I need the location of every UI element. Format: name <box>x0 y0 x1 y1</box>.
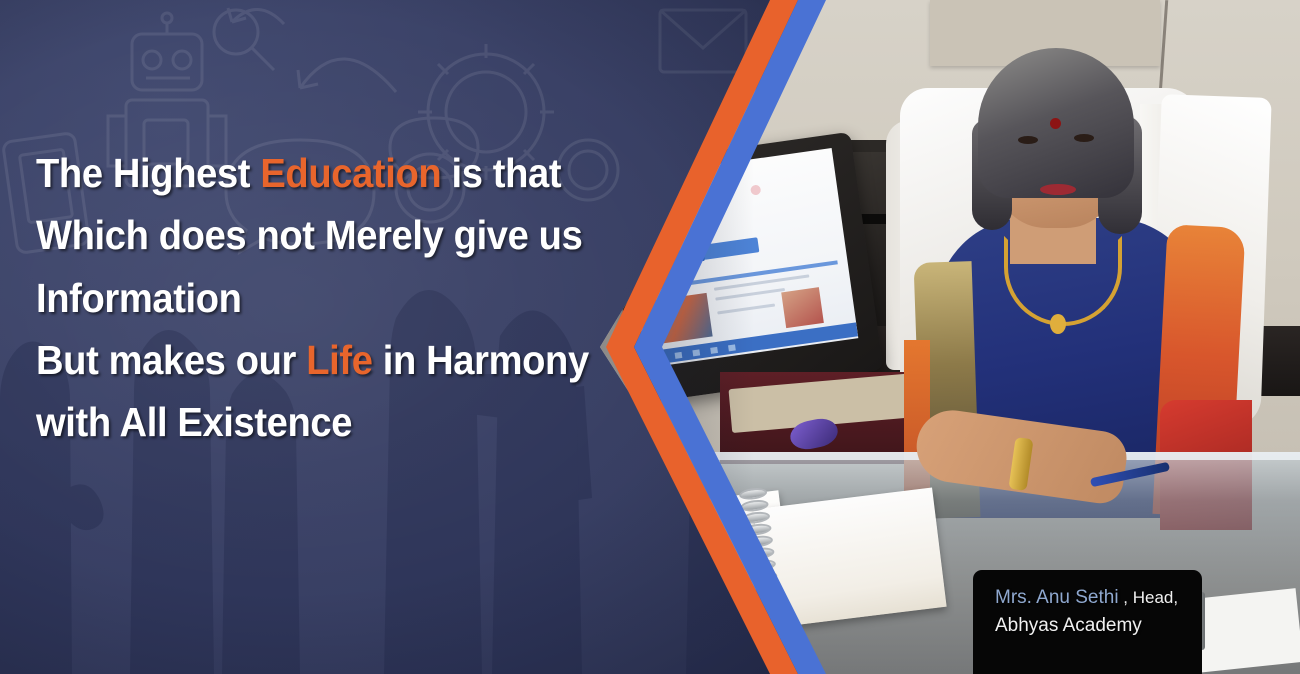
eye-right <box>1074 134 1094 142</box>
screen-text-line <box>717 303 775 314</box>
caption-organization: Abhyas Academy <box>995 612 1202 640</box>
caption-speaker-name: Mrs. Anu Sethi <box>995 587 1119 608</box>
screen-dot <box>750 184 761 195</box>
headline-accent-life: Life <box>306 337 372 383</box>
screen-logo-text <box>702 237 760 260</box>
headline-line-1-pre: The Highest <box>36 150 260 196</box>
education-hero-banner: The Highest Education is that Which does… <box>0 0 1300 674</box>
taskbar-icon <box>710 347 718 354</box>
taskbar-icon <box>692 349 700 356</box>
screen-text-line <box>715 288 785 301</box>
headline-line-4: But makes our Life in Harmony <box>36 329 585 391</box>
bindi <box>1050 118 1061 129</box>
headline-line-2: Which does not Merely give us <box>36 204 585 266</box>
taskbar-icon <box>675 352 683 359</box>
eye-left <box>1018 136 1038 144</box>
caption-speaker-role: , Head, <box>1119 588 1179 607</box>
headline-line-1-post: is that <box>441 150 561 196</box>
screen-photo-thumb <box>781 287 824 328</box>
notebook-right-page <box>753 487 946 628</box>
screen-photo-thumb <box>639 293 712 346</box>
taskbar-icon <box>657 354 665 361</box>
headline-line-1: The Highest Education is that <box>36 142 585 204</box>
headline-quote: The Highest Education is that Which does… <box>36 142 626 454</box>
screen-dot <box>713 177 728 192</box>
lips <box>1040 184 1076 195</box>
headline-line-4-pre: But makes our <box>36 337 306 383</box>
speaker-caption-box: Mrs. Anu Sethi , Head, Abhyas Academy <box>973 570 1202 674</box>
headline-accent-education: Education <box>260 150 441 196</box>
headline-line-5: with All Existence <box>36 391 585 453</box>
headline-line-3: Information <box>36 267 585 329</box>
taskbar-icon <box>728 344 736 351</box>
necklace-pendant <box>1050 314 1066 334</box>
caption-line-1: Mrs. Anu Sethi , Head, <box>995 584 1202 612</box>
headline-line-4-post: in Harmony <box>373 337 589 383</box>
envelope-icon <box>660 10 746 72</box>
